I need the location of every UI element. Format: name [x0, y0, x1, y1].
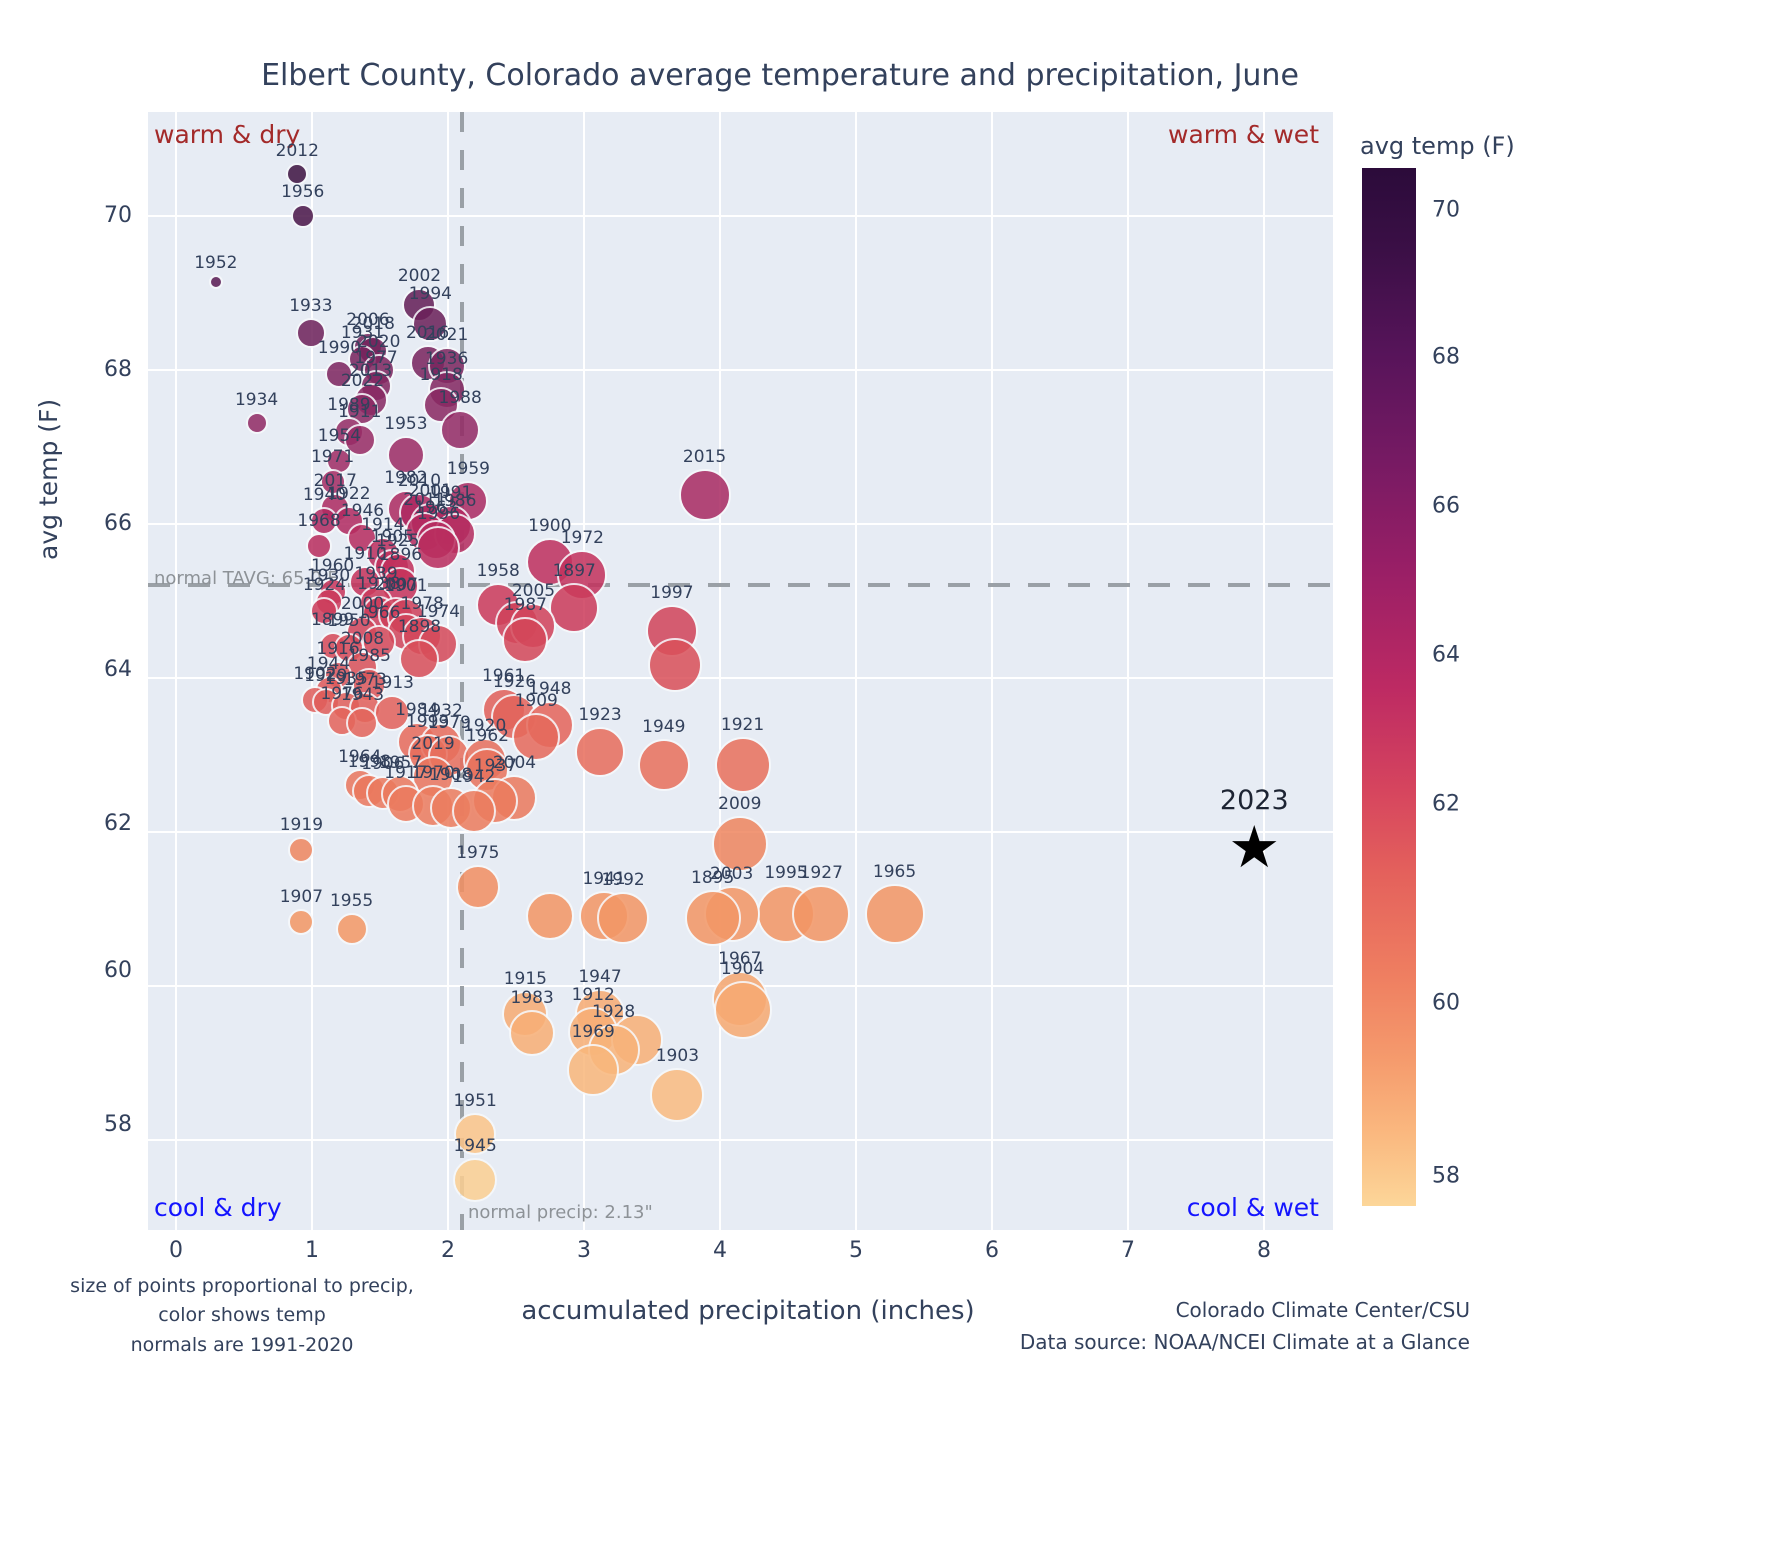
data-point-label: 1928 — [592, 1002, 635, 1022]
chart-title: Elbert County, Colorado average temperat… — [0, 58, 1560, 93]
data-point-label: 2022 — [341, 371, 384, 391]
colorbar-tick-62: 62 — [1432, 792, 1460, 817]
data-point — [650, 1068, 704, 1122]
footnote-left-line-2: color shows temp — [62, 1301, 422, 1330]
footnote-left-line-3: normals are 1991-2020 — [62, 1331, 422, 1360]
data-point — [306, 533, 332, 559]
y-tick-62: 62 — [46, 811, 132, 836]
data-point-label: 1953 — [384, 414, 427, 434]
data-point-label: 1942 — [452, 767, 495, 787]
data-point — [575, 727, 625, 777]
data-point-label: 1924 — [303, 575, 346, 595]
data-point-label: 1959 — [447, 459, 490, 479]
data-point — [792, 885, 850, 943]
gridline-x-0 — [175, 112, 177, 1230]
data-point — [291, 204, 315, 228]
x-tick-6: 6 — [962, 1238, 1022, 1263]
data-point-label: 1985 — [348, 646, 391, 666]
data-point-label: 2021 — [425, 325, 468, 345]
colorbar-title: avg temp (F) — [1360, 132, 1515, 160]
data-point-label: 1915 — [504, 969, 547, 989]
colorbar-tick-68: 68 — [1432, 345, 1460, 370]
data-point-label: 1950 — [327, 611, 370, 631]
colorbar-gradient — [1362, 168, 1416, 1206]
data-point — [246, 412, 268, 434]
gridline-x-8 — [1263, 112, 1265, 1230]
data-point-label: 1952 — [194, 253, 237, 273]
data-point-label: 1951 — [453, 1091, 496, 1111]
highlight-star-2023: ★ — [1228, 818, 1280, 876]
data-source-line: Data source: NOAA/NCEI Climate at a Glan… — [1000, 1326, 1470, 1358]
data-point-label: 1988 — [439, 388, 482, 408]
data-point-label: 1897 — [553, 561, 596, 581]
data-point-label: 1934 — [235, 390, 278, 410]
x-tick-3: 3 — [554, 1238, 614, 1263]
y-tick-64: 64 — [46, 657, 132, 682]
credit-line: Colorado Climate Center/CSU — [1000, 1294, 1470, 1326]
data-point-label: 1903 — [656, 1046, 699, 1066]
data-point-label: 1955 — [330, 891, 373, 911]
data-point — [715, 737, 771, 793]
x-tick-5: 5 — [826, 1238, 886, 1263]
y-tick-58: 58 — [46, 1112, 132, 1137]
gridline-x-2 — [447, 112, 449, 1230]
y-tick-66: 66 — [46, 511, 132, 536]
data-point — [456, 865, 500, 909]
data-point-label: 1983 — [511, 988, 554, 1008]
footnote-left-line-1: size of points proportional to precip, — [62, 1272, 422, 1301]
data-point-label: 1921 — [721, 715, 764, 735]
gridline-x-4 — [719, 112, 721, 1230]
data-point — [209, 275, 223, 289]
data-point-label: 1919 — [280, 815, 323, 835]
data-point-label: 1907 — [280, 887, 323, 907]
normal-precip-line — [460, 112, 464, 1230]
data-point-label: 1895 — [691, 868, 734, 888]
x-tick-8: 8 — [1234, 1238, 1294, 1263]
gridline-y-70 — [148, 215, 1333, 217]
data-point — [416, 526, 460, 570]
data-point-label: 1904 — [721, 959, 764, 979]
footnote-left: size of points proportional to precip, c… — [62, 1272, 422, 1360]
data-point — [452, 789, 496, 833]
gridline-x-7 — [1127, 112, 1129, 1230]
data-point-label: 1975 — [456, 843, 499, 863]
data-point-label: 2009 — [718, 794, 761, 814]
data-point-label: 1896 — [379, 545, 422, 565]
chart-canvas: Elbert County, Colorado average temperat… — [0, 0, 1772, 1564]
data-point — [336, 913, 368, 945]
data-point — [597, 892, 649, 944]
data-point-label: 2012 — [276, 141, 319, 161]
data-point-label: 1962 — [466, 726, 509, 746]
data-point-label: 1933 — [289, 296, 332, 316]
gridline-x-5 — [855, 112, 857, 1230]
data-point — [865, 884, 925, 944]
colorbar-tick-64: 64 — [1432, 643, 1460, 668]
data-point — [638, 739, 690, 791]
data-point — [685, 890, 741, 946]
data-point-label: 1954 — [318, 426, 361, 446]
colorbar-tick-60: 60 — [1432, 991, 1460, 1016]
data-point — [714, 981, 772, 1039]
y-tick-60: 60 — [46, 958, 132, 983]
data-point-label: 1909 — [515, 691, 558, 711]
data-point-label: 2002 — [398, 266, 441, 286]
data-point — [288, 909, 314, 935]
data-point-label: 1898 — [398, 617, 441, 637]
data-point-label: 1972 — [561, 528, 604, 548]
quadrant-cool-wet: cool & wet — [1187, 1193, 1319, 1222]
x-tick-2: 2 — [418, 1238, 478, 1263]
data-point-label: 1987 — [504, 595, 547, 615]
x-tick-0: 0 — [146, 1238, 206, 1263]
data-point-label: 1945 — [453, 1136, 496, 1156]
y-tick-70: 70 — [46, 203, 132, 228]
data-point — [502, 617, 548, 663]
highlight-label-2023: 2023 — [1220, 785, 1289, 816]
data-point-label: 1968 — [297, 511, 340, 531]
data-point-label: 1958 — [477, 561, 520, 581]
data-point — [440, 410, 480, 450]
data-point-label: 1994 — [409, 284, 452, 304]
data-point — [549, 583, 599, 633]
colorbar-tick-66: 66 — [1432, 494, 1460, 519]
normal-precip-label: normal precip: 2.13" — [468, 1202, 653, 1223]
scatter-plot-area: normal TAVG: 65.0 F normal precip: 2.13"… — [148, 112, 1333, 1230]
x-tick-1: 1 — [282, 1238, 342, 1263]
data-point — [453, 1158, 497, 1202]
quadrant-warm-wet: warm & wet — [1168, 120, 1319, 149]
data-point-label: 1965 — [873, 862, 916, 882]
data-point — [509, 1010, 555, 1056]
data-point-label: 1943 — [341, 685, 384, 705]
footnote-right: Colorado Climate Center/CSU Data source:… — [1000, 1294, 1470, 1358]
data-point-label: 2019 — [411, 734, 454, 754]
data-point-label: 1992 — [601, 870, 644, 890]
data-point — [679, 469, 731, 521]
x-tick-4: 4 — [690, 1238, 750, 1263]
data-point-label: 1923 — [578, 705, 621, 725]
data-point — [526, 892, 574, 940]
data-point-label: 1997 — [650, 583, 693, 603]
colorbar-tick-58: 58 — [1432, 1164, 1460, 1189]
gridline-x-6 — [991, 112, 993, 1230]
gridline-y-58 — [148, 1139, 1333, 1141]
data-point-label: 1956 — [281, 182, 324, 202]
data-point — [346, 707, 378, 739]
data-point — [567, 1044, 619, 1096]
colorbar-tick-70: 70 — [1432, 198, 1460, 223]
data-point-label: 1971 — [311, 447, 354, 467]
quadrant-cool-dry: cool & dry — [154, 1193, 282, 1222]
data-point — [648, 638, 702, 692]
data-point-label: 1949 — [642, 717, 685, 737]
data-point-label: 1969 — [572, 1022, 615, 1042]
data-point-label: 1927 — [800, 863, 843, 883]
data-point-label: 1918 — [420, 365, 463, 385]
data-point-label: 2015 — [683, 447, 726, 467]
y-tick-68: 68 — [46, 357, 132, 382]
data-point-label: 1911 — [338, 402, 381, 422]
x-tick-7: 7 — [1098, 1238, 1158, 1263]
data-point-label: 1901 — [384, 576, 427, 596]
data-point-label: 1996 — [417, 504, 460, 524]
x-axis-label: accumulated precipitation (inches) — [448, 1296, 1048, 1326]
